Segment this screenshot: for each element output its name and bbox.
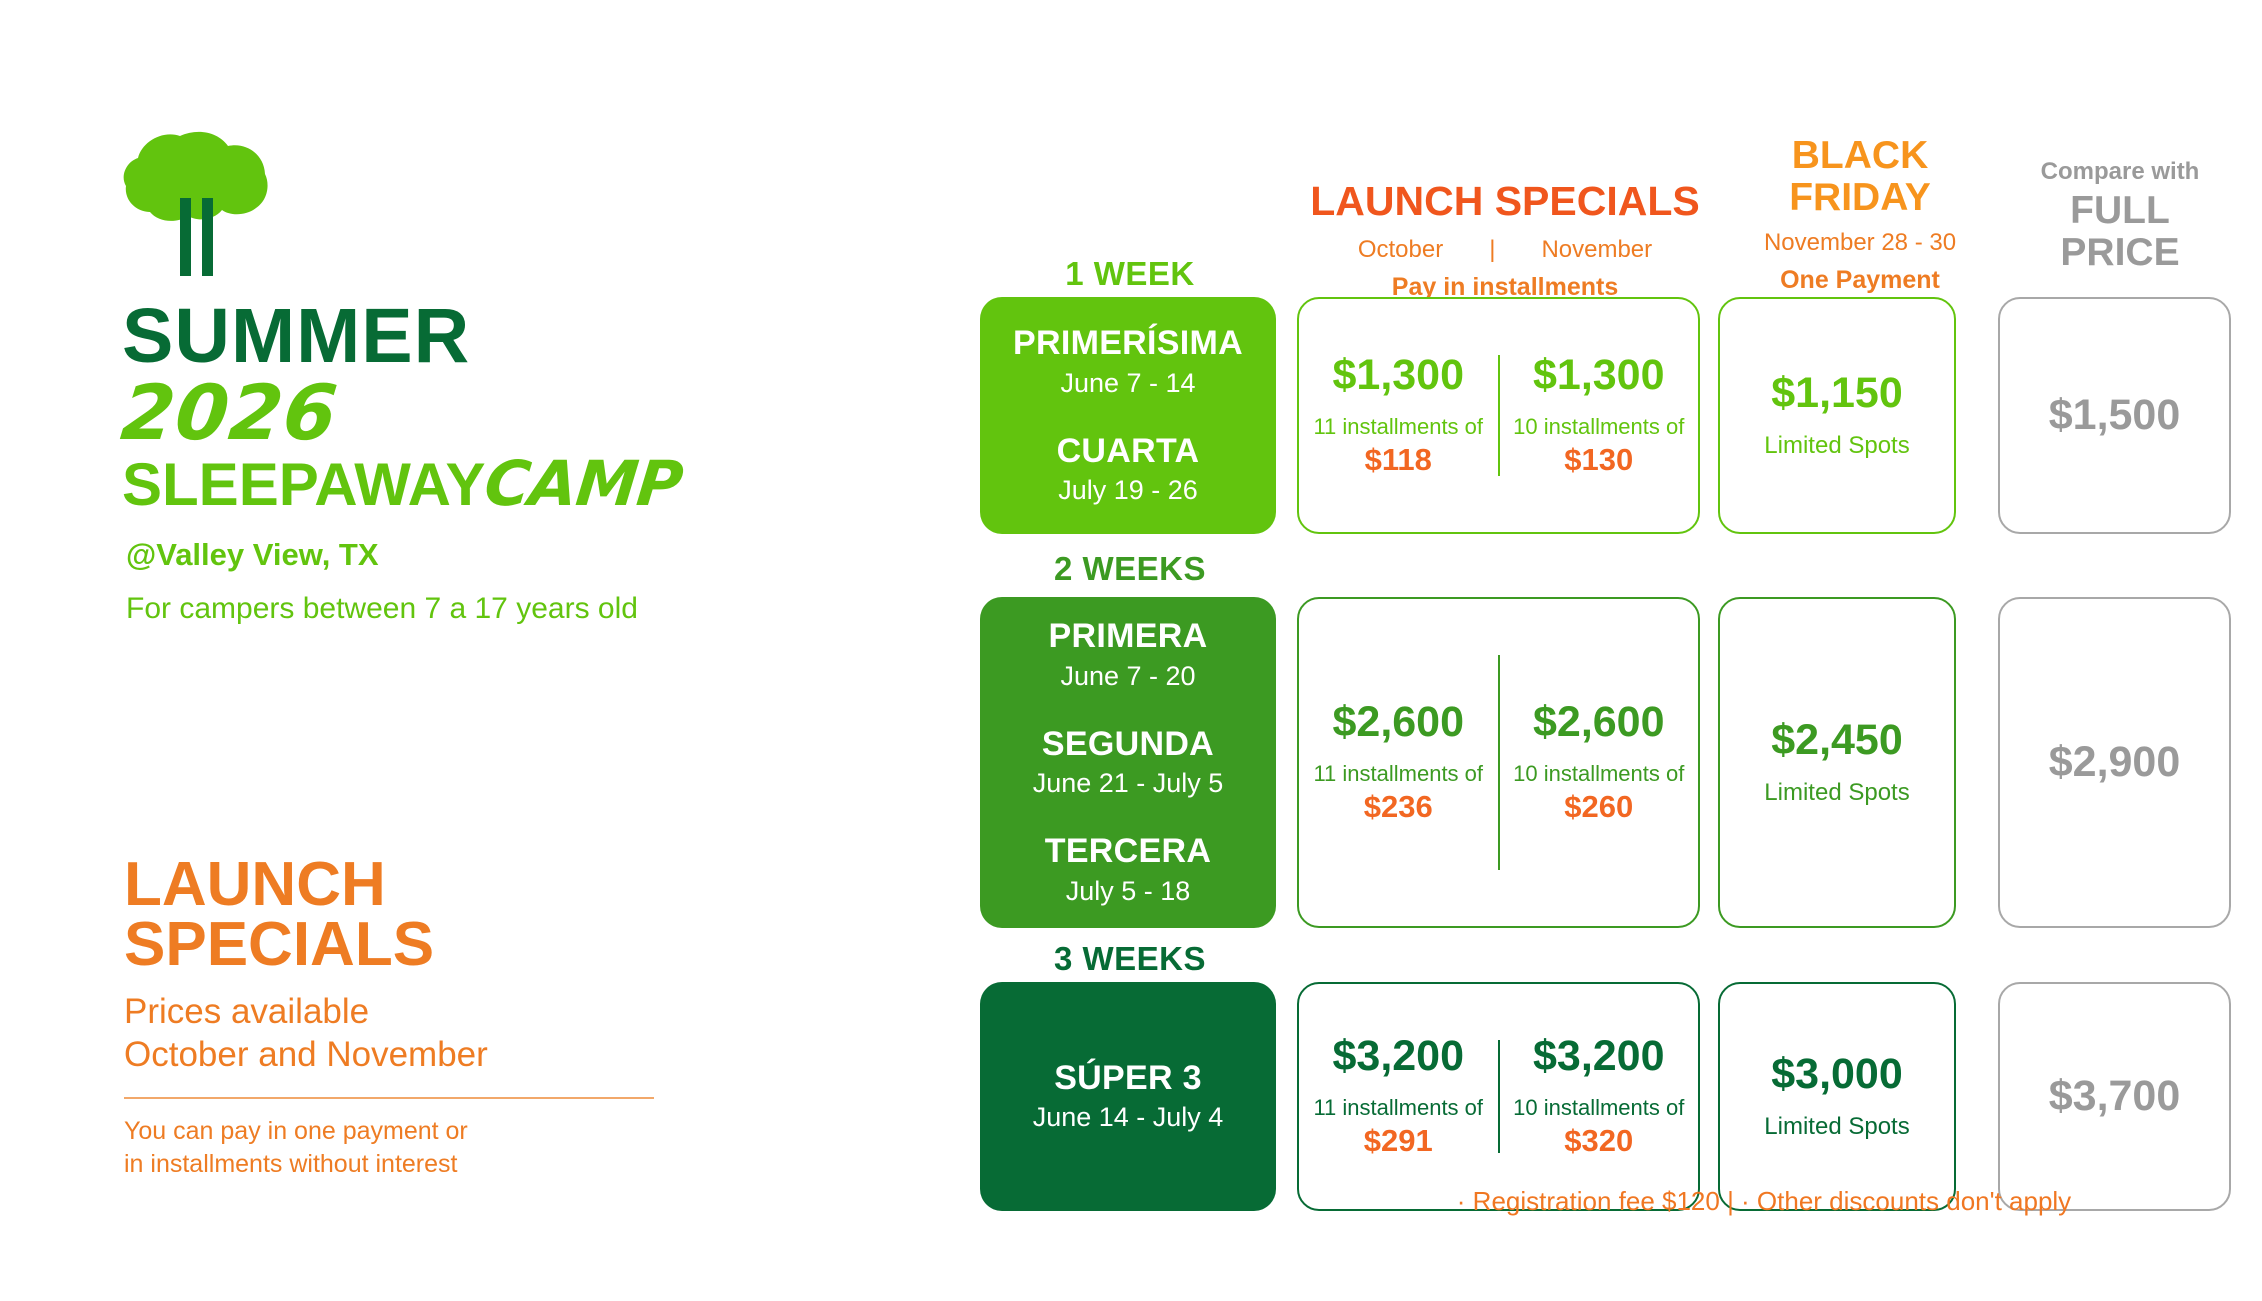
footnote: · Registration fee $120 | · Other discou… [1297, 1186, 2231, 1217]
brand-sleepaway: SLEEPAWAY [122, 451, 485, 518]
header-full-title-line1: FULL [1995, 190, 2245, 232]
session-dates: June 7 - 20 [1049, 661, 1208, 692]
session-item: CUARTAJuly 19 - 26 [1057, 433, 1200, 506]
brand-location: @Valley View, TX [126, 537, 379, 573]
header-full-price: Compare with FULL PRICE [1995, 158, 2245, 274]
week-label-1: 1 WEEK [980, 255, 1280, 293]
brand-ages: For campers between 7 a 17 years old [126, 592, 638, 626]
launch-november-installments-label: 10 installments of [1506, 762, 1693, 786]
header-launch-month-october: October [1358, 236, 1443, 264]
header-black-friday: BLACK FRIDAY November 28 - 30 One Paymen… [1735, 135, 1985, 295]
launch-november-installments-label: 10 installments of [1506, 415, 1693, 439]
header-bf-payment-mode: One Payment [1735, 266, 1985, 295]
poster-canvas: SUMMER 2026 SLEEPAWAYCAMP @Valley View, … [0, 0, 2262, 1301]
brand-camp: CAMP [482, 453, 685, 515]
tree-icon [118, 128, 278, 278]
launch-november-cell: $2,60010 installments of$260 [1500, 700, 1699, 824]
header-launch-separator: | [1489, 236, 1495, 264]
black-friday-note: Limited Spots [1764, 779, 1909, 807]
black-friday-price: $2,450 [1771, 718, 1903, 763]
session-name: SEGUNDA [1033, 726, 1224, 763]
black-friday-card-1[interactable]: $1,150Limited Spots [1718, 297, 1956, 534]
session-dates: July 5 - 18 [1045, 876, 1211, 907]
session-name: TERCERA [1045, 833, 1211, 870]
launch-november-installment-amount: $320 [1506, 1123, 1693, 1159]
session-card-1[interactable]: PRIMERÍSIMAJune 7 - 14CUARTAJuly 19 - 26 [980, 297, 1276, 534]
session-item: TERCERAJuly 5 - 18 [1045, 833, 1211, 906]
header-bf-title-line1: BLACK [1735, 135, 1985, 177]
launch-specials-card-3[interactable]: $3,20011 installments of$291$3,20010 ins… [1297, 982, 1700, 1211]
full-price-card-1[interactable]: $1,500 [1998, 297, 2231, 534]
launch-october-installment-amount: $118 [1305, 442, 1492, 478]
session-dates: July 19 - 26 [1057, 475, 1200, 506]
week-label-2: 2 WEEKS [980, 550, 1280, 588]
session-item: SÚPER 3June 14 - July 4 [1033, 1060, 1224, 1133]
launch-october-installment-amount: $291 [1305, 1123, 1492, 1159]
launch-october-price: $1,300 [1305, 353, 1492, 398]
session-name: PRIMERÍSIMA [1013, 325, 1243, 362]
launch-november-price: $1,300 [1506, 353, 1693, 398]
session-item: PRIMERÍSIMAJune 7 - 14 [1013, 325, 1243, 398]
brand-year: 2026 [118, 375, 846, 451]
promo-note-line2: in installments without interest [124, 1148, 744, 1181]
black-friday-price: $3,000 [1771, 1052, 1903, 1097]
header-launch-title: LAUNCH SPECIALS [1300, 178, 1710, 225]
launch-october-cell: $1,30011 installments of$118 [1299, 353, 1498, 477]
launch-november-cell: $1,30010 installments of$130 [1500, 353, 1699, 477]
promo-note-line1: You can pay in one payment or [124, 1115, 744, 1148]
launch-specials-card-1[interactable]: $1,30011 installments of$118$1,30010 ins… [1297, 297, 1700, 534]
launch-october-cell: $3,20011 installments of$291 [1299, 1034, 1498, 1158]
session-card-2[interactable]: PRIMERAJune 7 - 20SEGUNDAJune 21 - July … [980, 597, 1276, 928]
launch-november-price: $3,200 [1506, 1034, 1693, 1079]
session-item: PRIMERAJune 7 - 20 [1049, 618, 1208, 691]
black-friday-note: Limited Spots [1764, 432, 1909, 460]
session-item: SEGUNDAJune 21 - July 5 [1033, 726, 1224, 799]
full-price-value: $2,900 [2049, 738, 2181, 787]
full-price-card-2[interactable]: $2,900 [1998, 597, 2231, 928]
header-launch-specials: LAUNCH SPECIALS October | November Pay i… [1300, 178, 1710, 302]
promo-sub-line1: Prices available [124, 990, 744, 1033]
session-dates: June 21 - July 5 [1033, 768, 1224, 799]
session-name: PRIMERA [1049, 618, 1208, 655]
full-price-value: $1,500 [2049, 391, 2181, 440]
session-dates: June 7 - 14 [1013, 368, 1243, 399]
header-full-title-line2: PRICE [1995, 232, 2245, 274]
black-friday-card-3[interactable]: $3,000Limited Spots [1718, 982, 1956, 1211]
launch-october-installments-label: 11 installments of [1305, 1096, 1492, 1120]
header-bf-dates: November 28 - 30 [1735, 229, 1985, 257]
launch-november-installment-amount: $130 [1506, 442, 1693, 478]
launch-october-price: $2,600 [1305, 700, 1492, 745]
week-label-3: 3 WEEKS [980, 940, 1280, 978]
header-launch-month-november: November [1541, 236, 1652, 264]
launch-october-cell: $2,60011 installments of$236 [1299, 700, 1498, 824]
launch-october-price: $3,200 [1305, 1034, 1492, 1079]
launch-november-installment-amount: $260 [1506, 789, 1693, 825]
launch-october-installments-label: 11 installments of [1305, 762, 1492, 786]
launch-october-installment-amount: $236 [1305, 789, 1492, 825]
promo-block: LAUNCH SPECIALS Prices available October… [124, 855, 744, 1181]
header-bf-title-line2: FRIDAY [1735, 177, 1985, 219]
launch-october-installments-label: 11 installments of [1305, 415, 1492, 439]
left-panel: SUMMER 2026 SLEEPAWAYCAMP @Valley View, … [0, 0, 950, 1301]
launch-specials-card-2[interactable]: $2,60011 installments of$236$2,60010 ins… [1297, 597, 1700, 928]
brand-summer: SUMMER [122, 300, 842, 373]
session-card-3[interactable]: SÚPER 3June 14 - July 4 [980, 982, 1276, 1211]
session-name: CUARTA [1057, 433, 1200, 470]
launch-november-installments-label: 10 installments of [1506, 1096, 1693, 1120]
promo-divider [124, 1097, 654, 1099]
promo-sub-line2: October and November [124, 1033, 744, 1076]
black-friday-price: $1,150 [1771, 371, 1903, 416]
full-price-value: $3,700 [2049, 1072, 2181, 1121]
promo-title-line2: SPECIALS [124, 915, 744, 975]
launch-november-cell: $3,20010 installments of$320 [1500, 1034, 1699, 1158]
header-full-compare: Compare with [1995, 158, 2245, 186]
black-friday-card-2[interactable]: $2,450Limited Spots [1718, 597, 1956, 928]
launch-november-price: $2,600 [1506, 700, 1693, 745]
promo-title-line1: LAUNCH [124, 855, 744, 915]
session-name: SÚPER 3 [1033, 1060, 1224, 1097]
black-friday-note: Limited Spots [1764, 1113, 1909, 1141]
session-dates: June 14 - July 4 [1033, 1102, 1224, 1133]
full-price-card-3[interactable]: $3,700 [1998, 982, 2231, 1211]
brand-title: SUMMER 2026 SLEEPAWAYCAMP [122, 300, 842, 515]
